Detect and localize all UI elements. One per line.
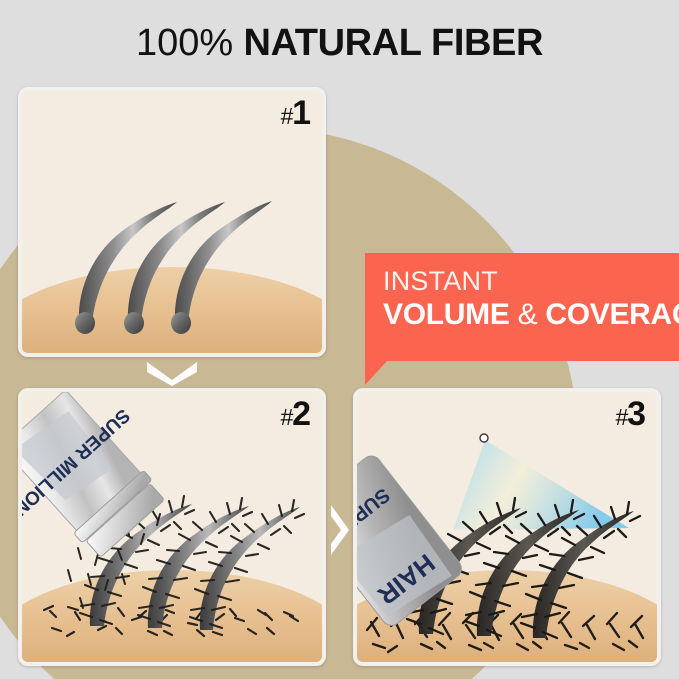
instant-volume-banner: INSTANT VOLUME & COVERAGE	[365, 253, 679, 361]
banner-pointer-tail	[365, 361, 387, 385]
spray-cone	[453, 434, 629, 530]
spray-application-illustration: SUPER HAIR	[357, 392, 657, 662]
banner-ampersand: &	[518, 298, 538, 331]
title-bold-part: NATURAL FIBER	[244, 22, 544, 64]
step-panel-1: #1	[18, 87, 326, 357]
step-panel-2-content: SUPER MILLION	[22, 392, 322, 662]
step-panel-1-content	[22, 91, 322, 353]
badge-hash-3: #	[615, 404, 627, 430]
banner-volume-text: VOLUME	[383, 298, 510, 331]
banner-line-1: INSTANT	[383, 267, 679, 296]
dense-fiber-bed	[367, 612, 643, 652]
hair-strand	[190, 500, 304, 630]
scattered-fibers-ground	[44, 606, 298, 636]
chevron-down-icon	[143, 358, 201, 386]
infographic-canvas: 100% NATURAL FIBER	[0, 0, 679, 679]
page-title: 100% NATURAL FIBER	[0, 22, 679, 65]
fiber-bottle-2: SUPER MILLION	[22, 392, 187, 579]
step-panel-3: SUPER HAIR #3	[353, 388, 661, 666]
badge-number-2: 2	[292, 395, 311, 433]
chevron-right-icon	[327, 502, 353, 558]
step-badge-1: #1	[280, 96, 311, 130]
badge-hash-1: #	[280, 103, 292, 129]
step-badge-3: #3	[615, 397, 646, 431]
step-badge-2: #2	[280, 397, 311, 431]
badge-number-3: 3	[627, 395, 646, 433]
step-panel-2: SUPER MILLION #2	[18, 388, 326, 666]
badge-number-1: 1	[292, 94, 311, 132]
spray-bottle-3: SUPER HAIR	[357, 410, 465, 630]
banner-line-2: VOLUME & COVERAGE	[383, 298, 679, 331]
hair-illustration-1	[22, 91, 322, 353]
hair-strand	[75, 202, 177, 334]
title-light-part: 100%	[136, 22, 233, 64]
fiber-application-illustration: SUPER MILLION	[22, 392, 322, 662]
badge-hash-2: #	[280, 404, 292, 430]
step-panel-3-content: SUPER HAIR	[357, 392, 657, 662]
banner-coverage-text: COVERAGE	[545, 298, 679, 331]
